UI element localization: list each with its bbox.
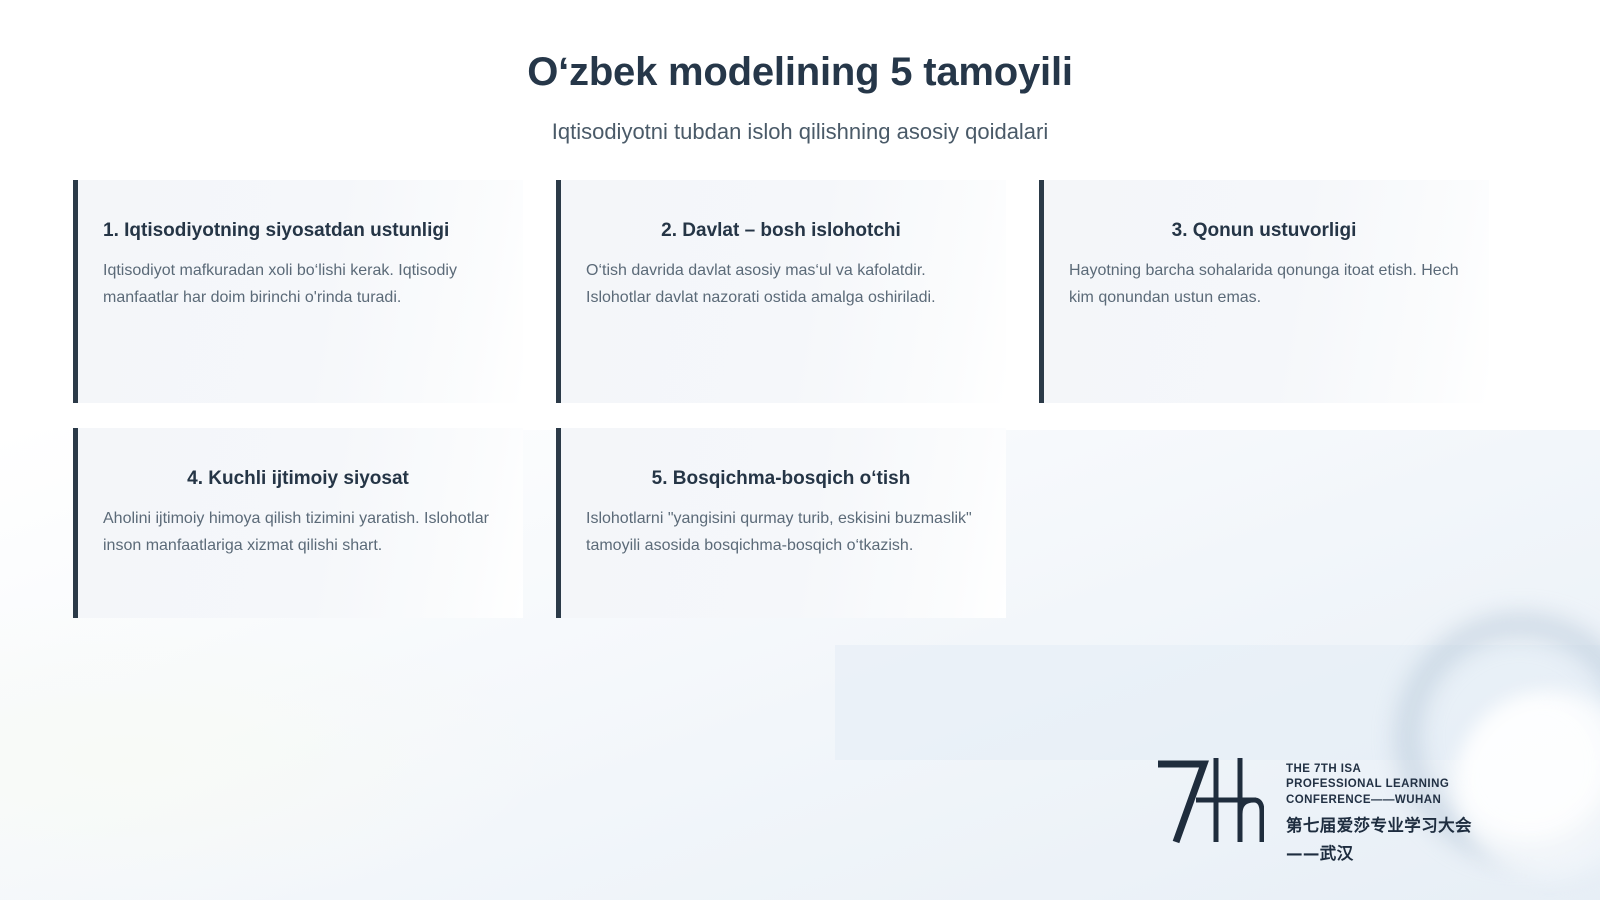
principle-card-2[interactable]: 2. Davlat – bosh islohotchi O‘tish davri… — [556, 180, 1006, 403]
logo-en-line-3: CONFERENCE——WUHAN — [1286, 793, 1472, 808]
principle-card-3-title: 3. Qonun ustuvorligi — [1069, 218, 1459, 245]
page-subtitle: Iqtisodiyotni tubdan isloh qilishning as… — [0, 118, 1600, 147]
principle-card-2-title: 2. Davlat – bosh islohotchi — [586, 218, 976, 245]
principle-card-5[interactable]: 5. Bosqichma-bosqich o‘tish Islohotlarni… — [556, 428, 1006, 618]
logo-cn-line-1: 第七届爱莎专业学习大会 — [1286, 815, 1472, 836]
slide-canvas: O‘zbek modelining 5 tamoyili Iqtisodiyot… — [0, 0, 1600, 900]
background-panel-shape — [835, 645, 1600, 760]
principle-card-4-body: Aholini ijtimoiy himoya qilish tizimini … — [103, 506, 493, 560]
conference-logo: THE 7TH ISA PROFESSIONAL LEARNING CONFER… — [1152, 756, 1472, 864]
background-soft-glow-left — [0, 600, 560, 900]
principle-card-3-body: Hayotning barcha sohalarida qonunga itoa… — [1069, 258, 1459, 312]
logo-en-line-2: PROFESSIONAL LEARNING — [1286, 777, 1472, 792]
principle-card-4-title: 4. Kuchli ijtimoiy siyosat — [103, 466, 493, 493]
principles-card-grid: 1. Iqtisodiyotning siyosatdan ustunligi … — [73, 180, 1527, 618]
card-row-1: 1. Iqtisodiyotning siyosatdan ustunligi … — [73, 180, 1527, 403]
logo-en-line-1: THE 7TH ISA — [1286, 762, 1472, 777]
background-ring-inner-glow — [1455, 690, 1600, 880]
principle-card-3[interactable]: 3. Qonun ustuvorligi Hayotning barcha so… — [1039, 180, 1489, 403]
principle-card-1-title: 1. Iqtisodiyotning siyosatdan ustunligi — [103, 218, 493, 245]
seventh-anniversary-icon — [1152, 756, 1264, 844]
card-row-2: 4. Kuchli ijtimoiy siyosat Aholini ijtim… — [73, 428, 1527, 618]
logo-cn-line-2: ——武汉 — [1286, 843, 1472, 864]
principle-card-4[interactable]: 4. Kuchli ijtimoiy siyosat Aholini ijtim… — [73, 428, 523, 618]
principle-card-1[interactable]: 1. Iqtisodiyotning siyosatdan ustunligi … — [73, 180, 523, 403]
page-title: O‘zbek modelining 5 tamoyili — [0, 48, 1600, 96]
slide-header: O‘zbek modelining 5 tamoyili Iqtisodiyot… — [0, 48, 1600, 147]
principle-card-1-body: Iqtisodiyot mafkuradan xoli bo‘lishi ker… — [103, 258, 493, 312]
principle-card-2-body: O‘tish davrida davlat asosiy mas‘ul va k… — [586, 258, 976, 312]
principle-card-5-title: 5. Bosqichma-bosqich o‘tish — [586, 466, 976, 493]
principle-card-5-body: Islohotlarni "yangisini qurmay turib, es… — [586, 506, 976, 560]
conference-logo-text: THE 7TH ISA PROFESSIONAL LEARNING CONFER… — [1286, 756, 1472, 864]
